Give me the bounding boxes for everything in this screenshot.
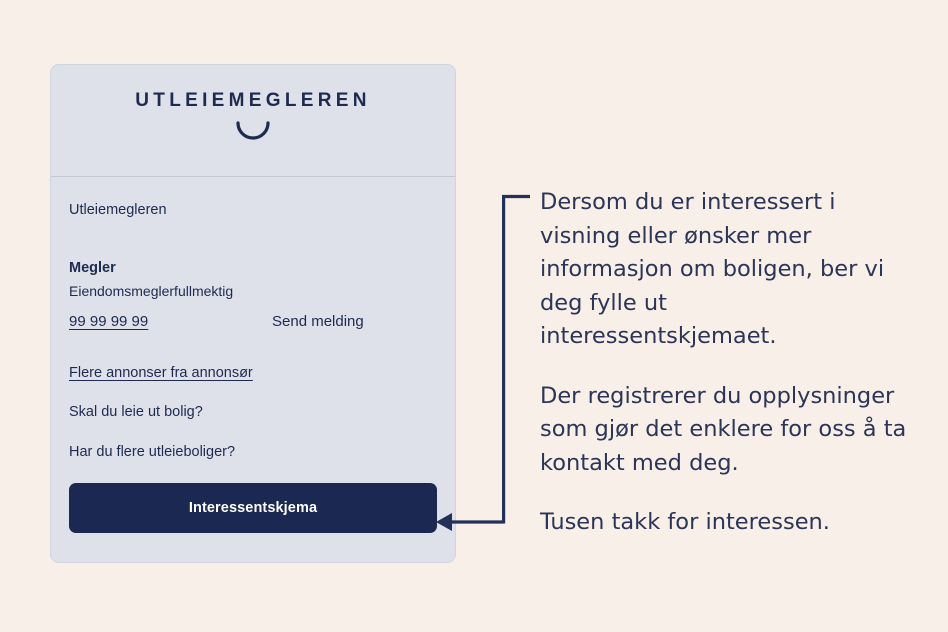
smile-arc-icon (235, 121, 271, 141)
agent-contact-row: 99 99 99 99 Send melding (69, 313, 437, 330)
annotation-paragraph-3: Tusen takk for interessen. (540, 506, 910, 540)
agent-contact-card: UTLEIEMEGLEREN Utleiemegleren Megler Eie… (50, 64, 456, 563)
card-header: UTLEIEMEGLEREN (51, 65, 455, 177)
agent-info-block: Megler Eiendomsmeglerfullmektig 99 99 99… (69, 259, 437, 330)
link-multiple-rentals[interactable]: Har du flere utleieboliger? (69, 443, 437, 462)
company-name: Utleiemegleren (69, 201, 437, 221)
agent-role-subtitle: Eiendomsmeglerfullmektig (69, 282, 437, 300)
interest-form-button[interactable]: Interessentskjema (69, 483, 437, 533)
send-message-link[interactable]: Send melding (272, 313, 364, 330)
link-more-ads-from-advertiser[interactable]: Flere annonser fra annonsør (69, 364, 437, 383)
agent-role-title: Megler (69, 259, 437, 278)
brand-wordmark: UTLEIEMEGLEREN (135, 91, 370, 110)
agent-phone-link[interactable]: 99 99 99 99 (69, 313, 272, 330)
annotation-text-block: Dersom du er interessert i visning eller… (540, 186, 910, 540)
annotation-paragraph-1: Dersom du er interessert i visning eller… (540, 186, 910, 354)
link-rent-out-home[interactable]: Skal du leie ut bolig? (69, 403, 437, 422)
card-body: Utleiemegleren Megler Eiendomsmeglerfull… (51, 177, 455, 533)
page-canvas: UTLEIEMEGLEREN Utleiemegleren Megler Eie… (0, 0, 948, 632)
related-links-block: Flere annonser fra annonsør Skal du leie… (69, 364, 437, 463)
annotation-paragraph-2: Der registrerer du opplysninger som gjør… (540, 380, 910, 481)
